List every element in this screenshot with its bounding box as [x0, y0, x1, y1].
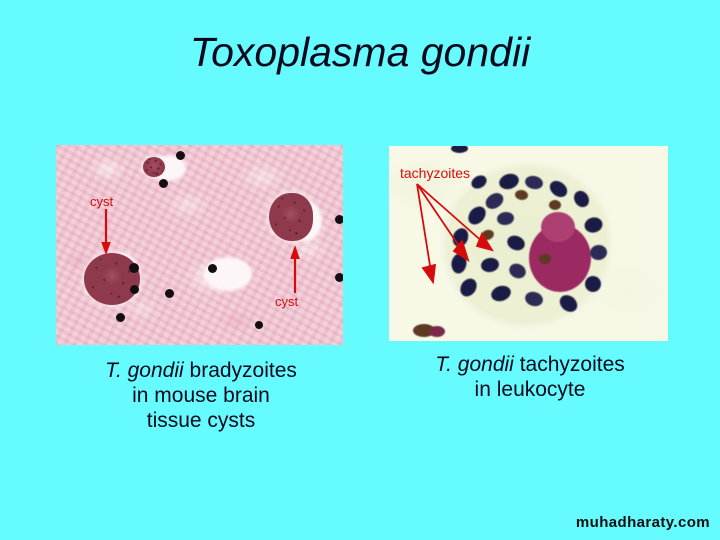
annotation-label-cyst-right: cyst — [275, 295, 298, 308]
tissue-nucleus-dot — [159, 179, 168, 188]
caption-line: in mouse brain — [56, 383, 346, 408]
caption-leukocyte-tachyzoites: T. gondii tachyzoites in leukocyte — [388, 352, 672, 402]
figure-brain-tissue-cysts: cyst cyst — [56, 145, 343, 345]
caption-line: T. gondii bradyzoites — [56, 358, 346, 383]
slide-canvas: Toxoplasma gondii cyst — [0, 0, 720, 540]
annotation-label-tachyzoites: tachyzoites — [400, 166, 470, 180]
slide-debris — [429, 326, 445, 337]
tissue-nucleus-dot — [165, 289, 174, 298]
caption-species-italic: T. gondii — [105, 359, 184, 382]
caption-species-italic: T. gondii — [435, 353, 514, 376]
tachyzoite — [549, 200, 561, 210]
tissue-nucleus-dot — [129, 263, 139, 273]
caption-brain-tissue-cysts: T. gondii bradyzoites in mouse brain tis… — [56, 358, 346, 433]
brain-tissue-texture — [56, 145, 343, 345]
tissue-nucleus-dot — [116, 313, 125, 322]
figure-leukocyte-tachyzoites: tachyzoites — [389, 146, 668, 341]
tissue-cyst-right — [269, 193, 313, 241]
tissue-cyst-large — [84, 253, 140, 305]
annotation-label-cyst-left: cyst — [90, 195, 113, 208]
tissue-nucleus-dot — [255, 321, 263, 329]
tissue-nucleus-dot — [130, 285, 139, 294]
page-title: Toxoplasma gondii — [0, 32, 720, 73]
caption-line-rest: tachyzoites — [514, 353, 625, 376]
caption-line: tissue cysts — [56, 408, 346, 433]
tissue-nucleus-dot — [176, 151, 185, 160]
host-cell-nucleus-lobe — [541, 212, 575, 242]
caption-line: in leukocyte — [388, 377, 672, 402]
tissue-pale-blob — [204, 257, 252, 291]
caption-line-rest: bradyzoites — [184, 359, 297, 382]
tachyzoite — [539, 254, 551, 264]
tissue-nucleus-dot — [335, 273, 343, 282]
caption-line: T. gondii tachyzoites — [388, 352, 672, 377]
tissue-nucleus-dot — [335, 215, 343, 224]
tissue-cyst-small — [143, 157, 165, 177]
watermark-muhadharaty: muhadharaty.com — [576, 515, 710, 530]
tissue-nucleus-dot — [208, 264, 217, 273]
